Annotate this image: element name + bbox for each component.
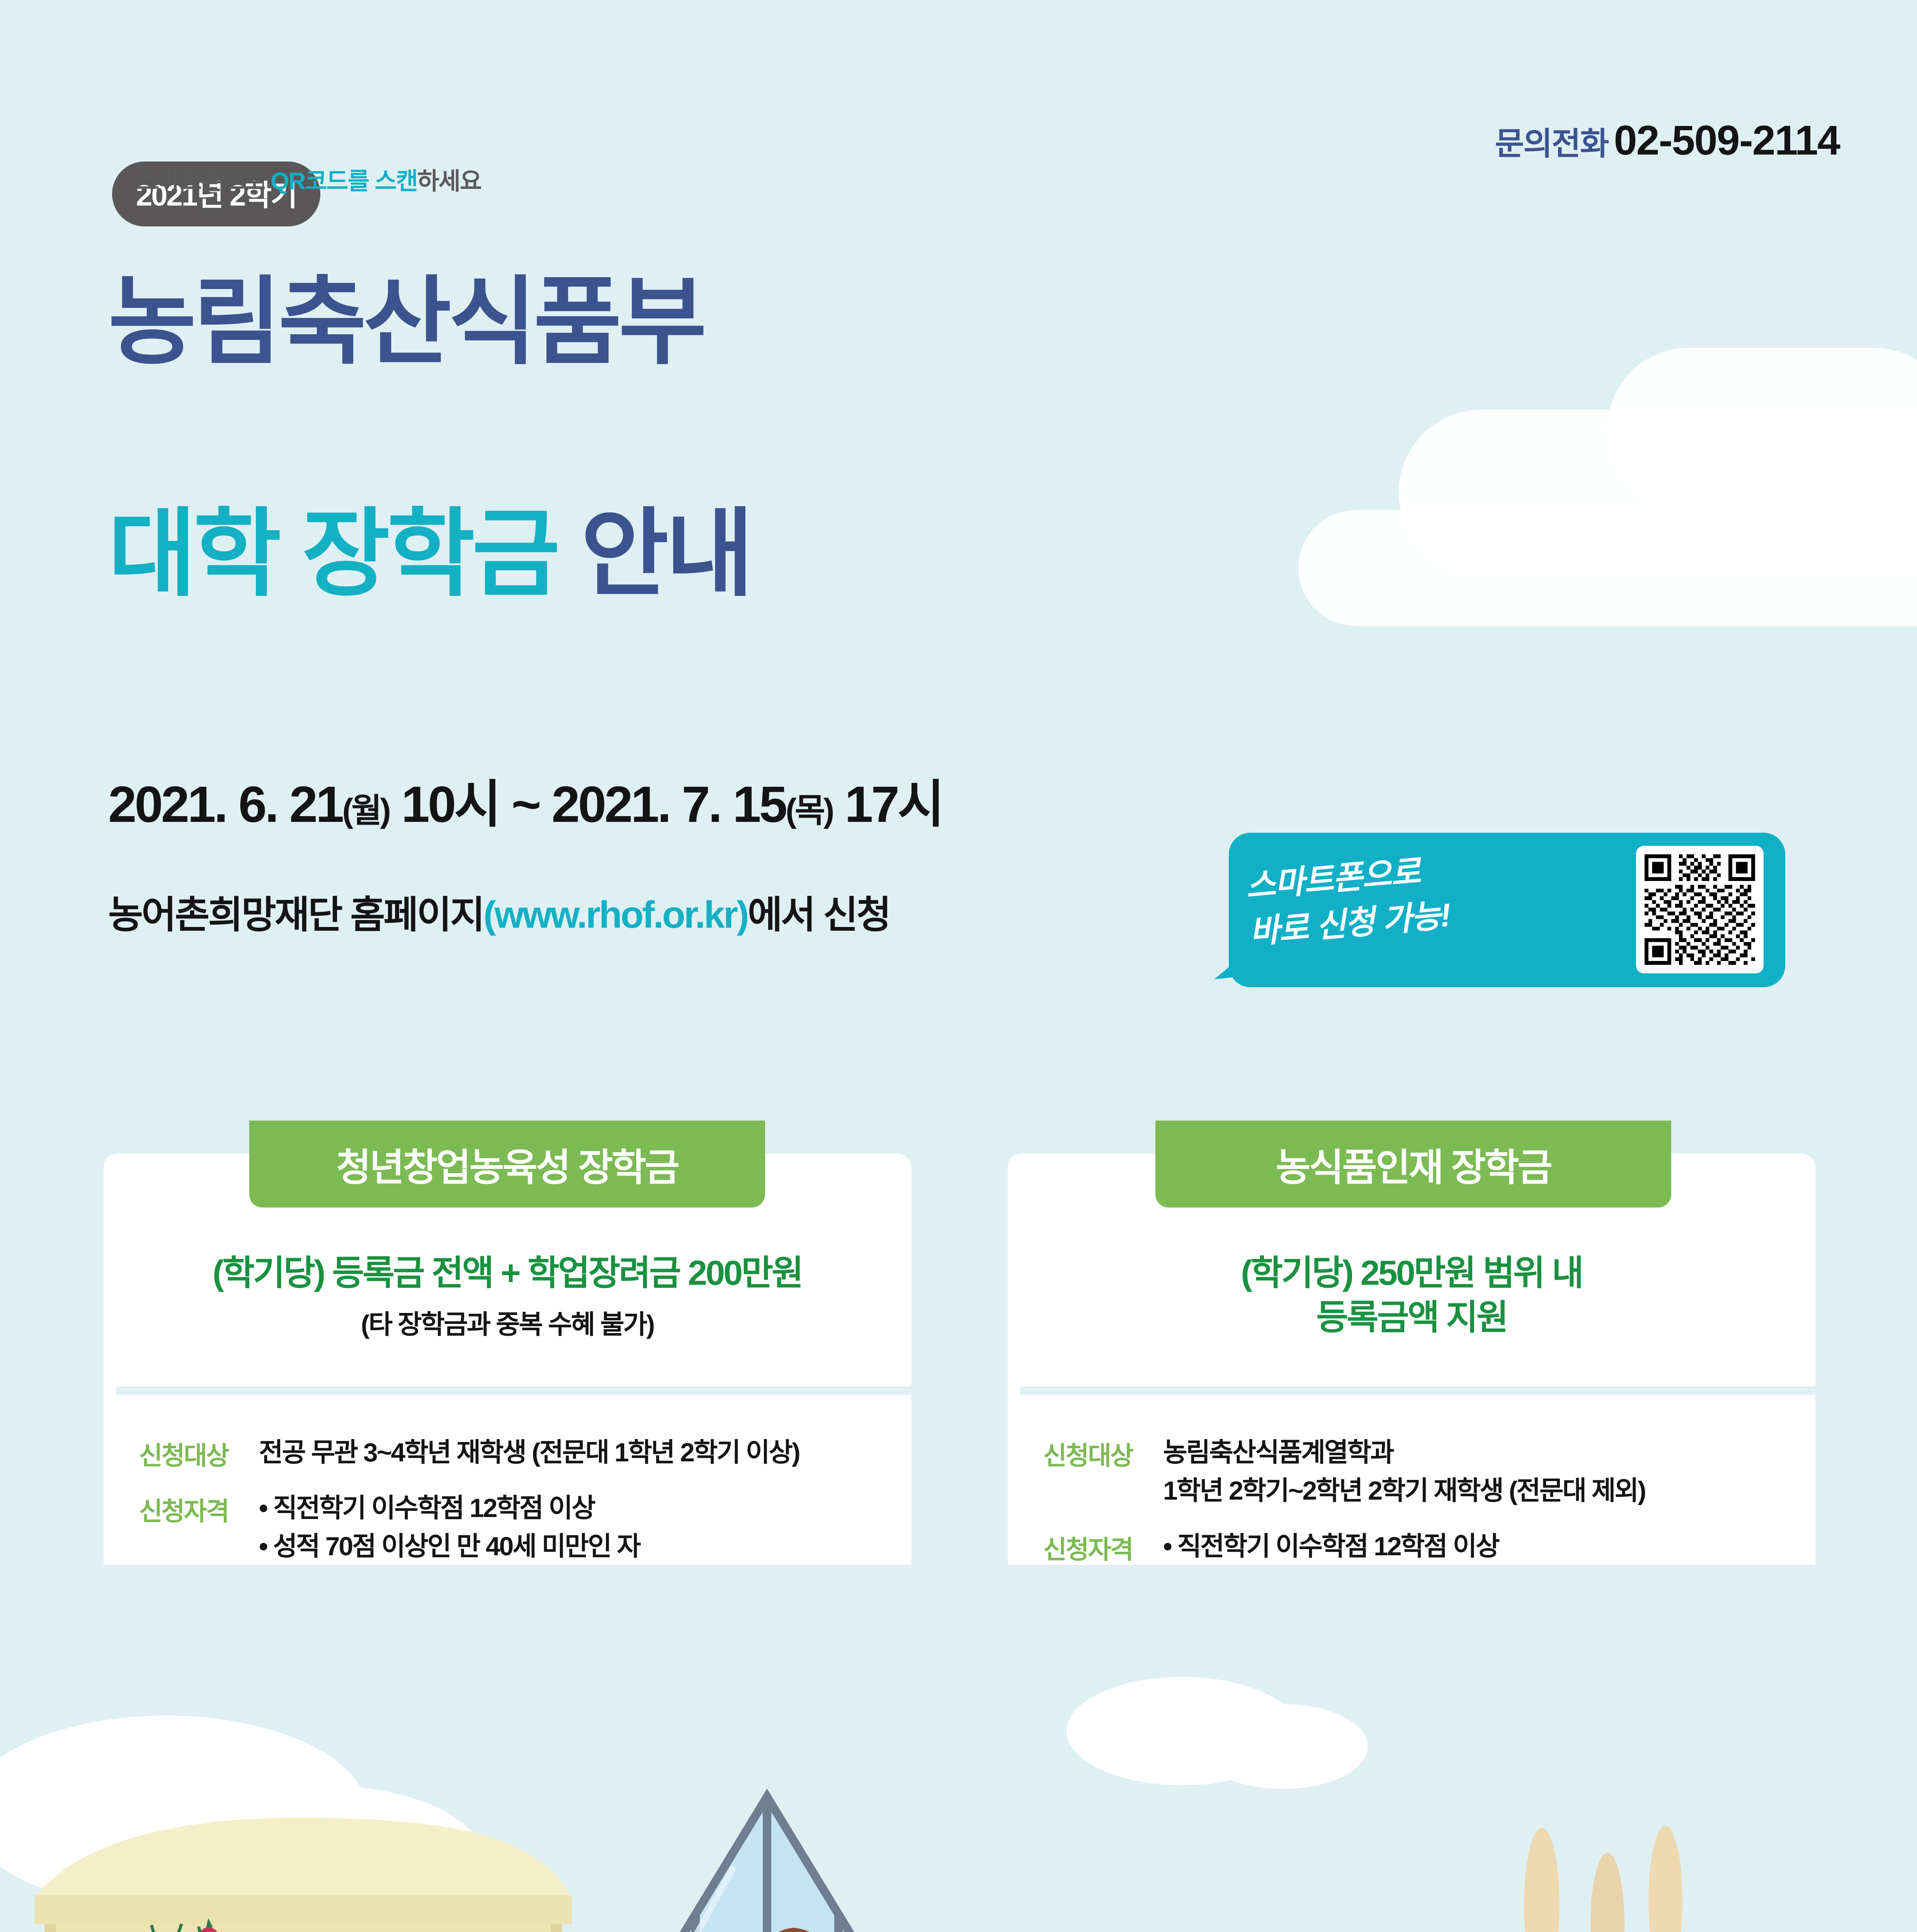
cloud-shape <box>1607 348 1917 510</box>
card-title-banner-youth-startup: 청년창업농육성 장학금 <box>249 1121 765 1207</box>
application-period: 2021. 6. 21(월) 10시 ~ 2021. 7. 15(목) 17시 <box>108 763 942 837</box>
card-title-banner-agrifood-talent: 농식품인재 장학금 <box>1155 1121 1671 1207</box>
date-start: 2021. 6. 21 <box>108 776 342 833</box>
date-end-time: 17시 <box>832 776 942 833</box>
detail-value: 농림축산식품계열학과 <box>1163 1434 1778 1472</box>
page-title-line2: 대학 장학금 안내 <box>108 502 751 606</box>
detail-row-values: 농림축산식품계열학과 1학년 2학기~2학년 2학기 재학생 (전문대 제외) <box>1163 1434 1778 1510</box>
page-title-tail: 안내 <box>557 500 751 607</box>
qr-note-suffix: 하세요 <box>417 168 481 195</box>
qr-code[interactable] <box>1636 846 1764 973</box>
card-divider <box>1020 1386 1816 1395</box>
detail-value: • 직전학기 이수학점 12학점 이상 <box>259 1489 873 1527</box>
card-title-label: 농식품인재 장학금 <box>1276 1137 1551 1192</box>
site-suffix: 에서 신청 <box>748 893 890 936</box>
date-end-day: (목) <box>786 792 832 829</box>
cloud-shape <box>1298 510 1917 626</box>
farm-illustration <box>0 1565 1917 1932</box>
qr-note-prefix: 스마트폰으로 <box>137 168 270 195</box>
site-prefix: 농어촌희망재단 홈페이지 <box>108 893 483 936</box>
site-url-link[interactable]: (www.rhof.or.kr) <box>483 893 748 936</box>
detail-value: 전공 무관 3~4학년 재학생 (전문대 1학년 2학기 이상) <box>259 1434 873 1472</box>
application-site: 농어촌희망재단 홈페이지(www.rhof.or.kr)에서 신청 <box>108 884 890 939</box>
detail-row: 신청대상 전공 무관 3~4학년 재학생 (전문대 1학년 2학기 이상) <box>139 1434 873 1472</box>
contact-phone-label: 문의전화 <box>1495 126 1609 162</box>
qr-note-highlight: QR코드를 스캔 <box>270 168 417 195</box>
card-title-label: 청년창업농육성 장학금 <box>336 1137 678 1192</box>
detail-row: 신청대상 농림축산식품계열학과 1학년 2학기~2학년 2학기 재학생 (전문대… <box>1043 1434 1778 1510</box>
detail-value: • 성적 70점 이상인 만 40세 미만인 자 <box>259 1527 873 1566</box>
farm-scene-svg <box>0 1565 1917 1932</box>
date-start-day: (월) <box>342 792 389 829</box>
date-start-time: 10시 ~ <box>389 776 551 833</box>
detail-row-values: • 직전학기 이수학점 12학점 이상 • 성적 70점 이상인 만 40세 미… <box>259 1489 873 1566</box>
date-end: 2021. 7. 15 <box>551 776 786 833</box>
detail-value: • 직전학기 이수학점 12학점 이상 <box>1163 1527 1778 1566</box>
card-amount-agrifood-talent: (학기당) 250만원 범위 내 등록금액 지원 <box>1008 1251 1815 1340</box>
contact-phone-number: 02-509-2114 <box>1614 117 1840 163</box>
contact-phone: 문의전화02-509-2114 <box>1495 116 1840 164</box>
card-divider <box>116 1386 912 1395</box>
detail-row-values: 전공 무관 3~4학년 재학생 (전문대 1학년 2학기 이상) <box>259 1434 873 1472</box>
detail-row-label: 신청대상 <box>1043 1434 1163 1510</box>
poster-root: 문의전화02-509-2114 2021년 2학기 농림축산식품부 대학 장학금… <box>0 0 1917 1932</box>
qr-code-icon <box>1645 854 1755 965</box>
card-subnote-youth-startup: (타 장학금과 중복 수혜 불가) <box>104 1303 911 1341</box>
detail-row: 신청자격 • 직전학기 이수학점 12학점 이상 • 성적 70점 이상인 만 … <box>139 1489 873 1566</box>
detail-value: 1학년 2학기~2학년 2학기 재학생 (전문대 제외) <box>1163 1472 1778 1510</box>
detail-row-label: 신청대상 <box>139 1434 259 1472</box>
detail-row-label: 신청자격 <box>139 1489 259 1566</box>
qr-instruction: 스마트폰으로 QR코드를 스캔하세요 <box>39 162 580 196</box>
page-title-line1: 농림축산식품부 <box>108 270 704 374</box>
card-amount-youth-startup: (학기당) 등록금 전액 + 학업장려금 200만원 <box>104 1251 911 1296</box>
qr-section: 스마트폰으로 바로 신청 가능! <box>1206 833 1785 999</box>
page-title-highlight: 대학 장학금 <box>108 500 557 607</box>
